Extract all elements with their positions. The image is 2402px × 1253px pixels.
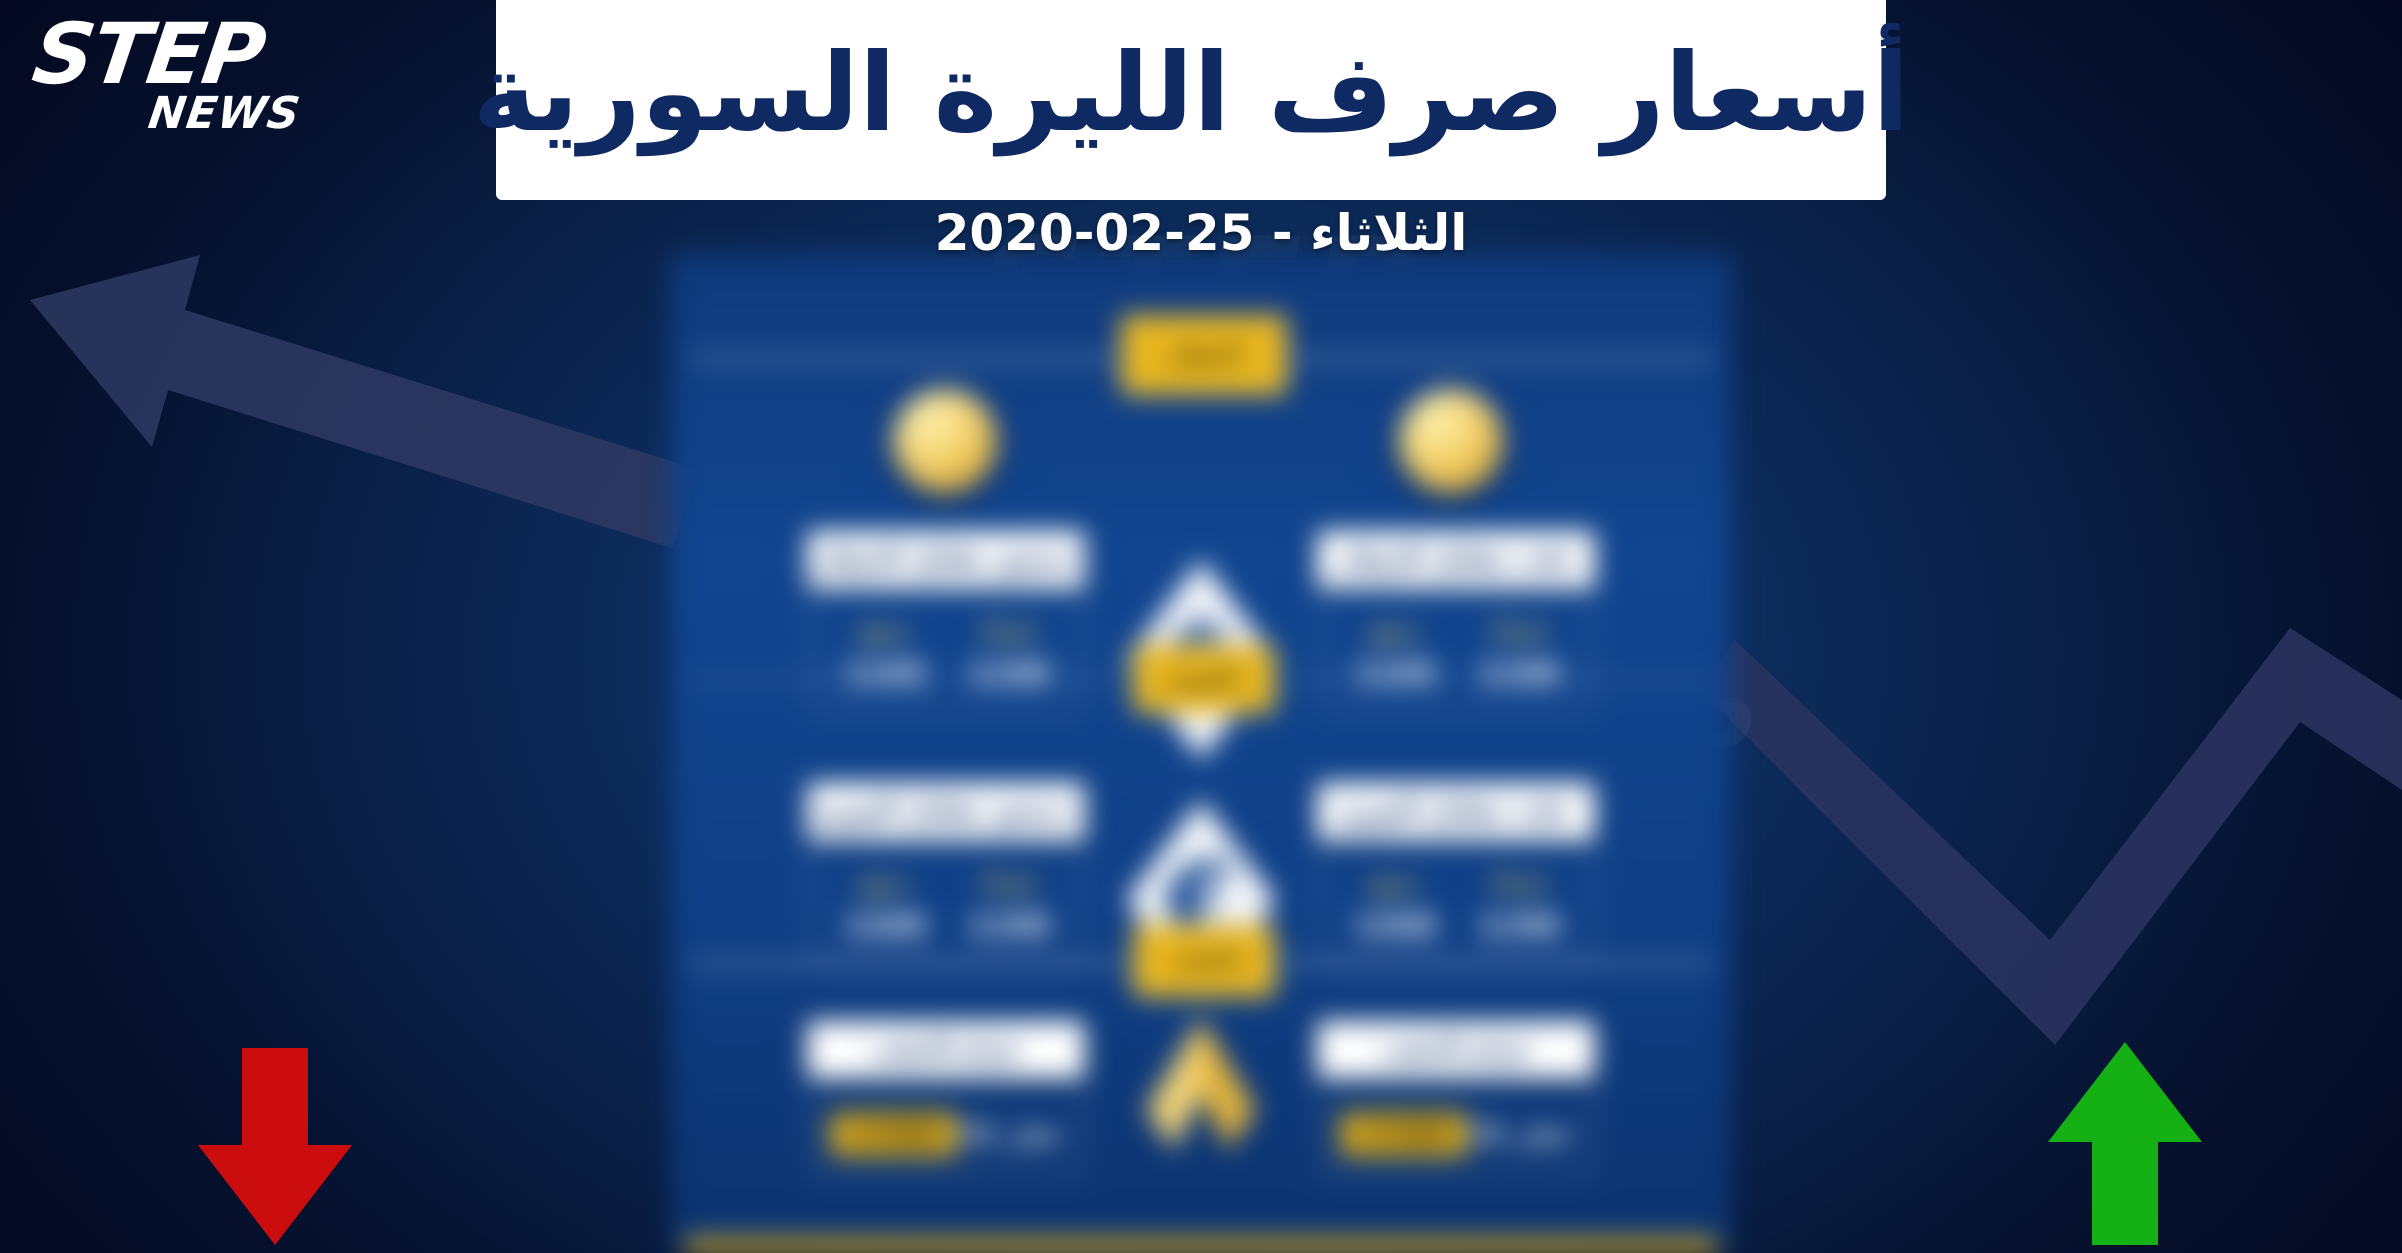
decor-zigzag-right [1700,628,2402,1045]
coin-icon-dollar-right [1399,389,1503,493]
gold-card-title: غرام الذهب [1317,1021,1595,1079]
gold-row-label: عيار 21 [961,1119,1063,1150]
rate-col-head: مبيع [828,869,942,895]
rate-col-head: مبيع [1338,617,1452,643]
gold-row-label: عيار 21 [1471,1119,1573,1150]
gold-row-value: 21000 [831,1113,957,1156]
rate-card-dollar-aleppo: حلب مقابل الدولار شراء 1100 مبيع 1105 [1321,555,1593,712]
rate-col-value: 1190 [1462,909,1576,944]
section-badge-gold: الذهب [1133,925,1275,997]
logo-step-text: STEP [29,18,339,90]
step-news-logo: STEP NEWS [34,18,334,136]
page-title: أسعار صرف الليرة السورية [473,37,1910,162]
gold-card-title: غرام الذهب [807,1021,1085,1079]
rate-col-head: مبيع [828,617,942,643]
section-badge-euro: اليورو [1133,645,1275,713]
rate-card-title: حلب مقابل اليورو [1317,783,1595,841]
gold-bar-emblem-icon [1106,1000,1296,1200]
rate-col-head: شراء [952,869,1066,895]
rate-card-euro-aleppo: حلب مقابل اليورو شراء 1190 مبيع 1200 [1321,807,1593,964]
logo-news-text: NEWS [31,92,303,136]
rate-col-head: مبيع [1338,869,1452,895]
rate-card-title: حلب مقابل الدولار [1317,531,1595,589]
exchange-rates-panel: الدولار دمشق مقابل الدولار شراء 1100 مبي… [671,255,1731,1253]
infographic-canvas: STEP NEWS STEP NEWS STEP NEWS أسعار صرف … [0,0,2402,1253]
section-badge-dollar: الدولار [1121,315,1287,395]
panel-surface: الدولار دمشق مقابل الدولار شراء 1100 مبي… [671,255,1731,1253]
rate-column-sell: مبيع 1200 [828,869,942,944]
rate-column-sell: مبيع 1200 [1338,869,1452,944]
gold-card-right: غرام الذهب عيار 21 21000 [1321,1045,1593,1178]
gold-card-left: غرام الذهب عيار 21 21000 [811,1045,1083,1178]
rate-card-dollar-damascus: دمشق مقابل الدولار شراء 1100 مبيع 1105 [811,555,1083,712]
panel-footer-bar [685,1239,1717,1253]
rate-col-value: 1190 [952,909,1066,944]
rate-col-value: 1200 [1338,909,1452,944]
rate-col-head: شراء [1462,617,1576,643]
rate-card-euro-damascus: دمشق مقابل اليورو شراء 1190 مبيع 1200 [811,807,1083,964]
rate-column-buy: شراء 1190 [1462,869,1576,944]
rate-card-title: دمشق مقابل الدولار [807,531,1085,589]
arrow-down-icon [180,1040,370,1253]
coin-icon-dollar-left [893,389,997,493]
arrow-up-icon [2030,1030,2220,1253]
date-label: الثلاثاء - 25-02-2020 [0,204,2402,262]
rate-col-head: شراء [1462,869,1576,895]
rate-column-buy: شراء 1190 [952,869,1066,944]
rate-col-head: شراء [952,617,1066,643]
title-banner: أسعار صرف الليرة السورية [496,0,1886,200]
gold-row-value: 21000 [1341,1113,1467,1156]
decor-arrow-left [30,255,700,548]
rate-card-title: دمشق مقابل اليورو [807,783,1085,841]
rate-col-value: 1200 [828,909,942,944]
